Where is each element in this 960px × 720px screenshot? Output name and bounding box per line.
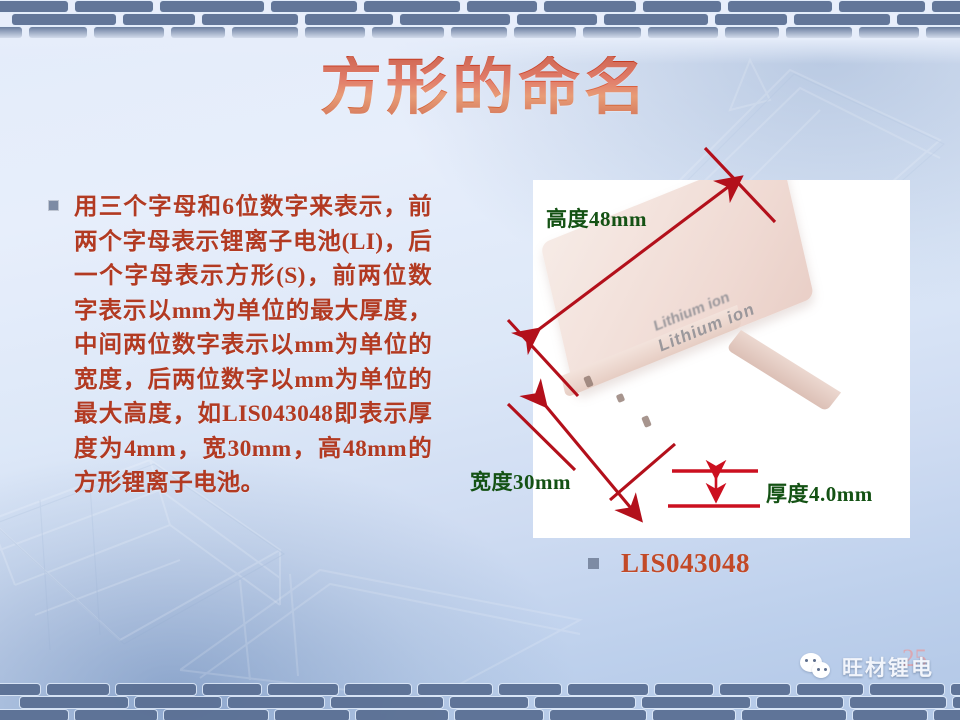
page-title: 方形的命名 [320,56,650,121]
wechat-icon [800,653,834,681]
bullet-paragraph-block: 用三个字母和6位数字来表示，前两个字母表示锂离子电池(LI)，后一个字母表示方形… [42,190,432,501]
brick-row [0,0,960,13]
battery-contact-icon [641,415,652,428]
brick-border-top [0,0,960,40]
square-bullet-icon [588,558,599,569]
slide-canvas: 方形的命名 用三个字母和6位数字来表示，前两个字母表示锂离子电池(LI)，后一个… [0,0,960,720]
brick-row [0,683,960,696]
square-bullet-icon [48,200,59,211]
figure-caption-row: LIS043048 [588,548,750,579]
brick-row [0,13,960,26]
dimension-label-height: 高度48mm [546,203,647,233]
watermark-text: 旺材锂电 [842,652,934,682]
dimension-label-width: 宽度30mm [470,466,571,496]
figure-caption: LIS043048 [621,548,750,579]
brick-row [0,709,960,720]
brick-row [0,696,960,709]
body-paragraph: 用三个字母和6位数字来表示，前两个字母表示锂离子电池(LI)，后一个字母表示方形… [74,190,432,501]
battery-side-face [726,330,841,412]
wechat-watermark: 旺材锂电 [800,652,934,682]
battery-contact-icon [616,393,625,403]
dimension-label-thickness: 厚度4.0mm [766,478,873,508]
brick-border-bottom [0,683,960,720]
